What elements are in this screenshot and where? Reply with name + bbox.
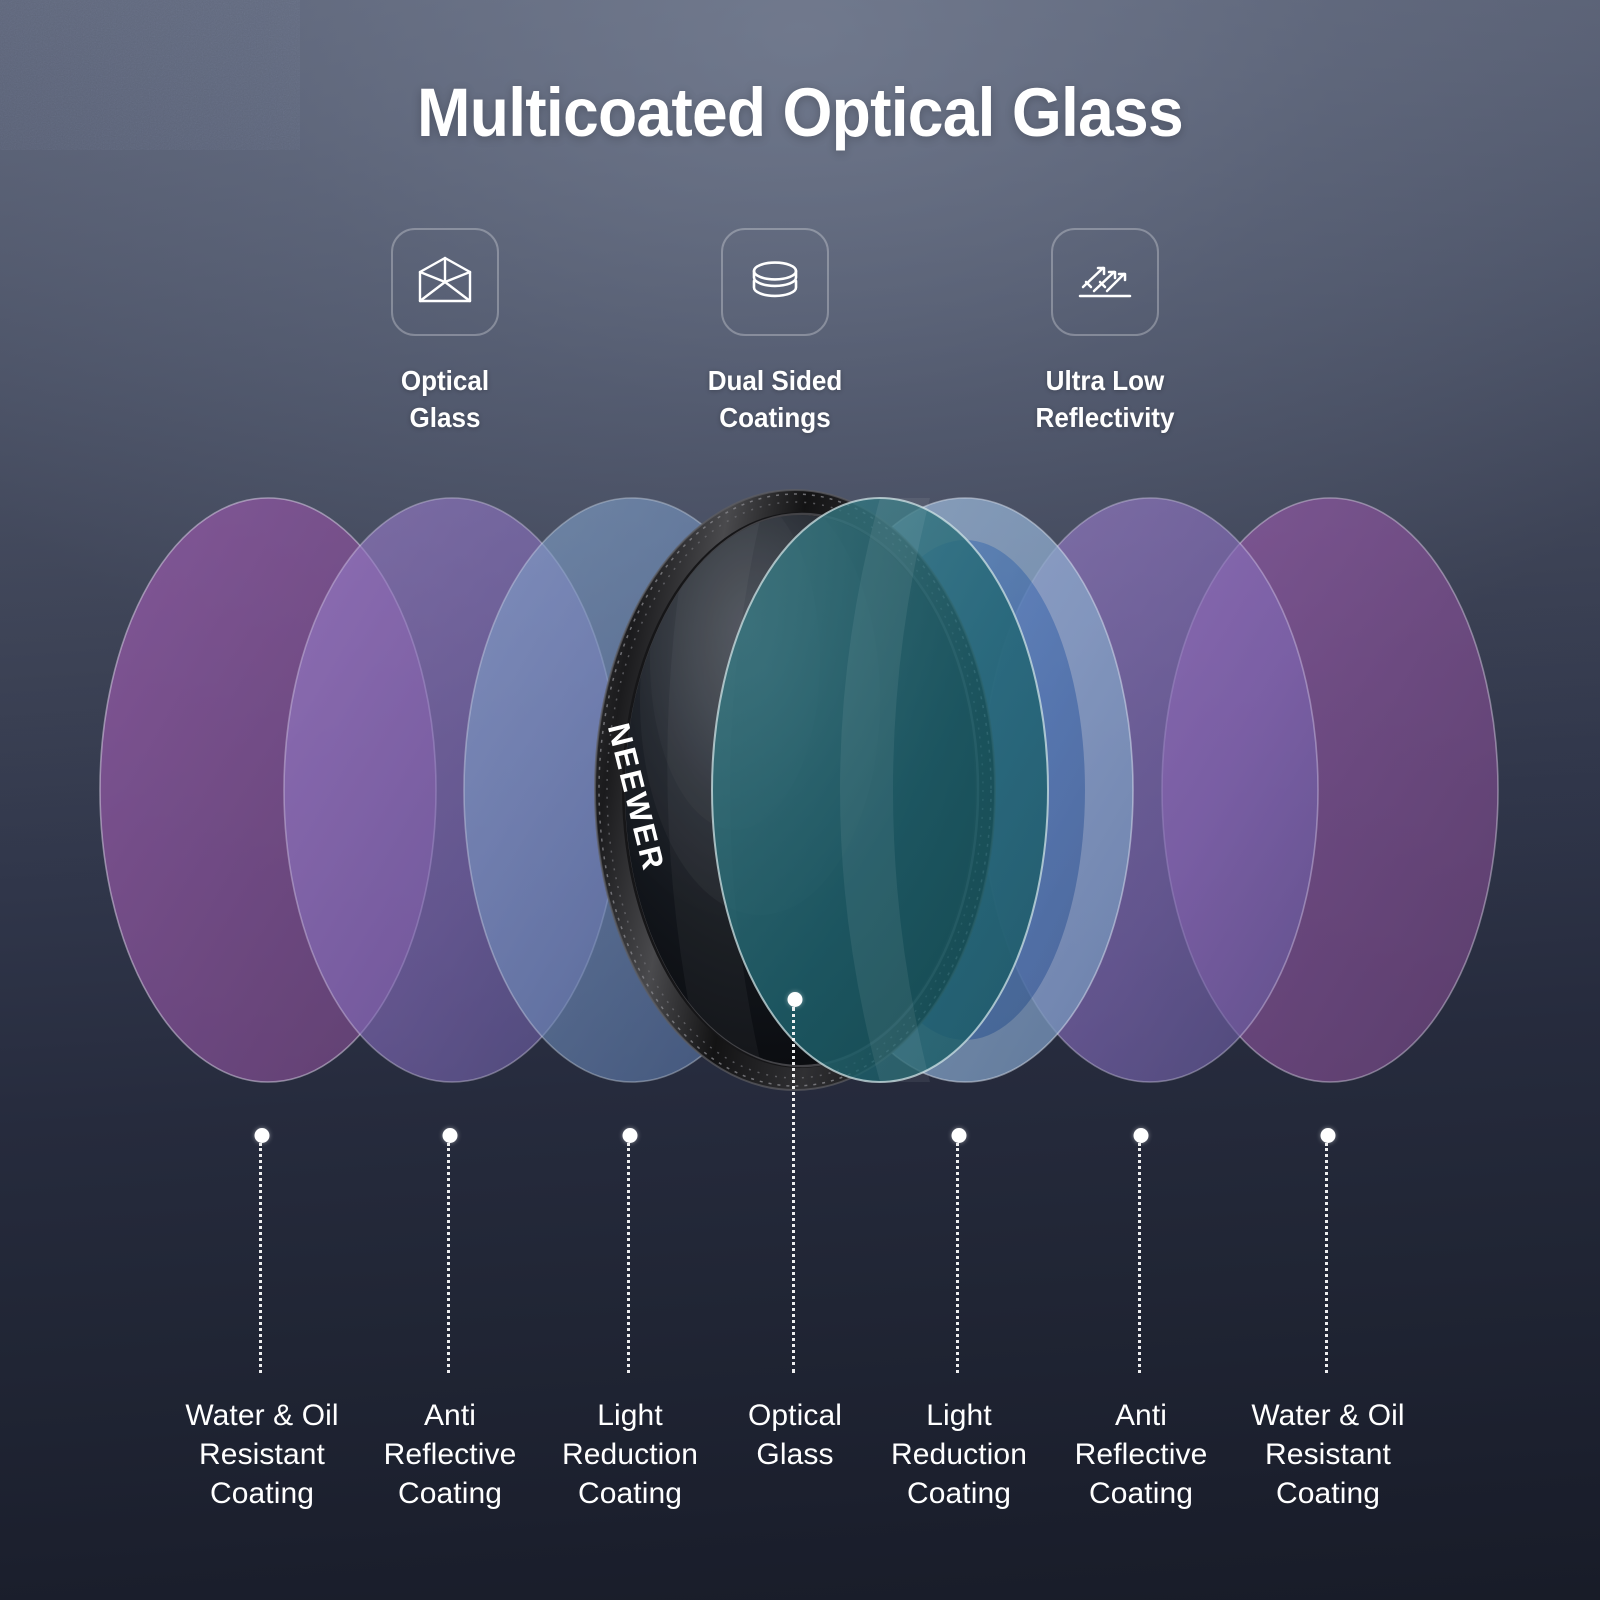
connector-anti-reflective-coating-left [447,1128,454,1373]
caption-line: Resistant [1208,1435,1448,1474]
caption-line: Coating [510,1474,750,1513]
connector-water-oil-resistant-coating-left [259,1128,266,1373]
connector-dot [1134,1128,1149,1143]
caption-water-oil-resistant-coating-right: Water & OilResistantCoating [1208,1396,1448,1513]
connector-dashed-line [1138,1143,1144,1373]
connector-water-oil-resistant-coating-right [1325,1128,1332,1373]
infographic-canvas: Multicoated Optical Glass Optical Glass [0,0,1600,1600]
connector-dashed-line [792,1007,798,1373]
disc-optical-teal-front [712,498,1048,1082]
connector-dot [788,992,803,1007]
connector-light-reduction-coating-right [956,1128,963,1373]
connector-optical-glass-center [792,992,799,1373]
connector-dot [1321,1128,1336,1143]
caption-line: Water & Oil [1208,1396,1448,1435]
connector-dot [255,1128,270,1143]
connector-dashed-line [956,1143,962,1373]
connector-dot [623,1128,638,1143]
connector-dot [443,1128,458,1143]
connector-dashed-line [1325,1143,1331,1373]
connector-dot [952,1128,967,1143]
caption-line: Coating [1208,1474,1448,1513]
connector-light-reduction-coating-left [627,1128,634,1373]
connector-dashed-line [627,1143,633,1373]
connector-dashed-line [447,1143,453,1373]
connector-anti-reflective-coating-right [1138,1128,1145,1373]
lens-layer-illustration: NEEWER [0,0,1600,1600]
connector-dashed-line [259,1143,265,1373]
